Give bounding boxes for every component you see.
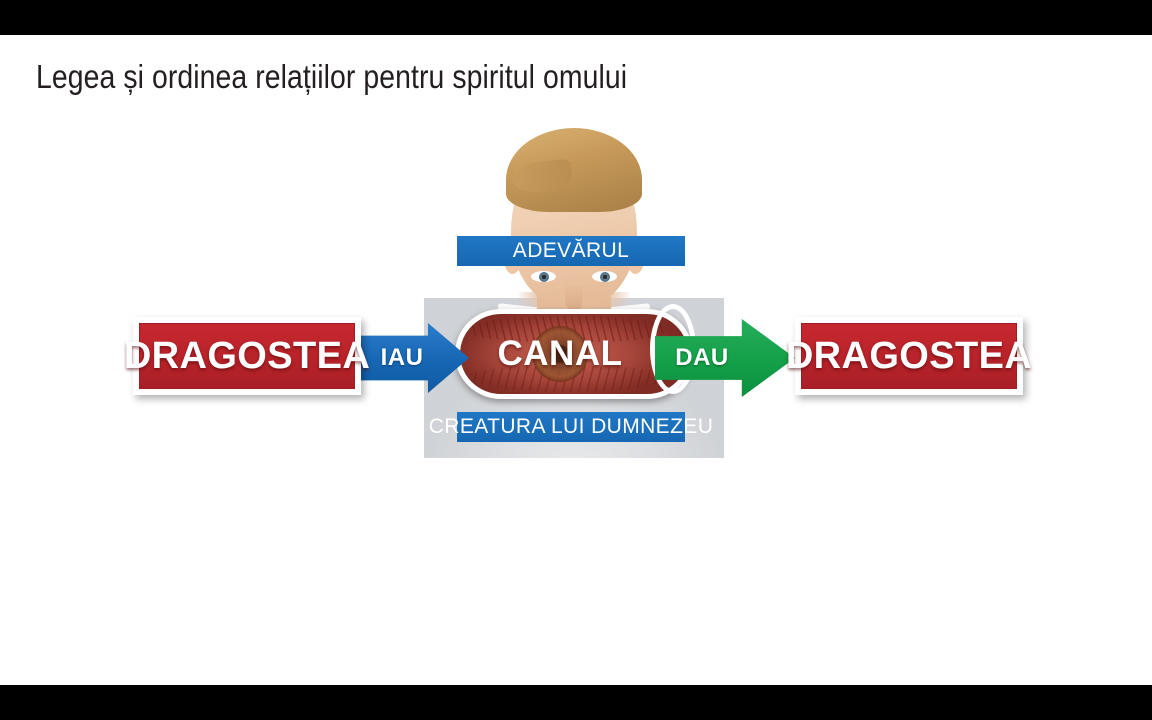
eye-right (592, 271, 617, 282)
slide-stage: Legea și ordinea relațiilor pentru spiri… (0, 0, 1152, 720)
slide-canvas: Legea și ordinea relațiilor pentru spiri… (0, 35, 1152, 685)
box-dragostea-right-label: DRAGOSTEA (801, 323, 1017, 389)
eye-left (531, 271, 556, 282)
box-dragostea-left-label: DRAGOSTEA (139, 323, 355, 389)
person-photo (424, 90, 724, 458)
nose (565, 284, 583, 312)
banner-adevarul: ADEVĂRUL (457, 236, 685, 266)
banner-creatura-lui-dumnezeu: CREATURA LUI DUMNEZEU (457, 412, 685, 442)
hair (506, 128, 642, 212)
arrow-dau-label: DAU (655, 344, 749, 372)
box-dragostea-left: DRAGOSTEA (133, 317, 361, 395)
arrow-iau-label: IAU (361, 344, 443, 372)
letterbox-bar-bottom (0, 685, 1152, 720)
center-banner-stack-bottom: CREATURA LUI DUMNEZEU (457, 412, 685, 442)
center-banner-stack: ADEVĂRUL (457, 236, 685, 266)
letterbox-bar-top (0, 0, 1152, 35)
iris (532, 326, 588, 382)
box-dragostea-right: DRAGOSTEA (795, 317, 1023, 395)
